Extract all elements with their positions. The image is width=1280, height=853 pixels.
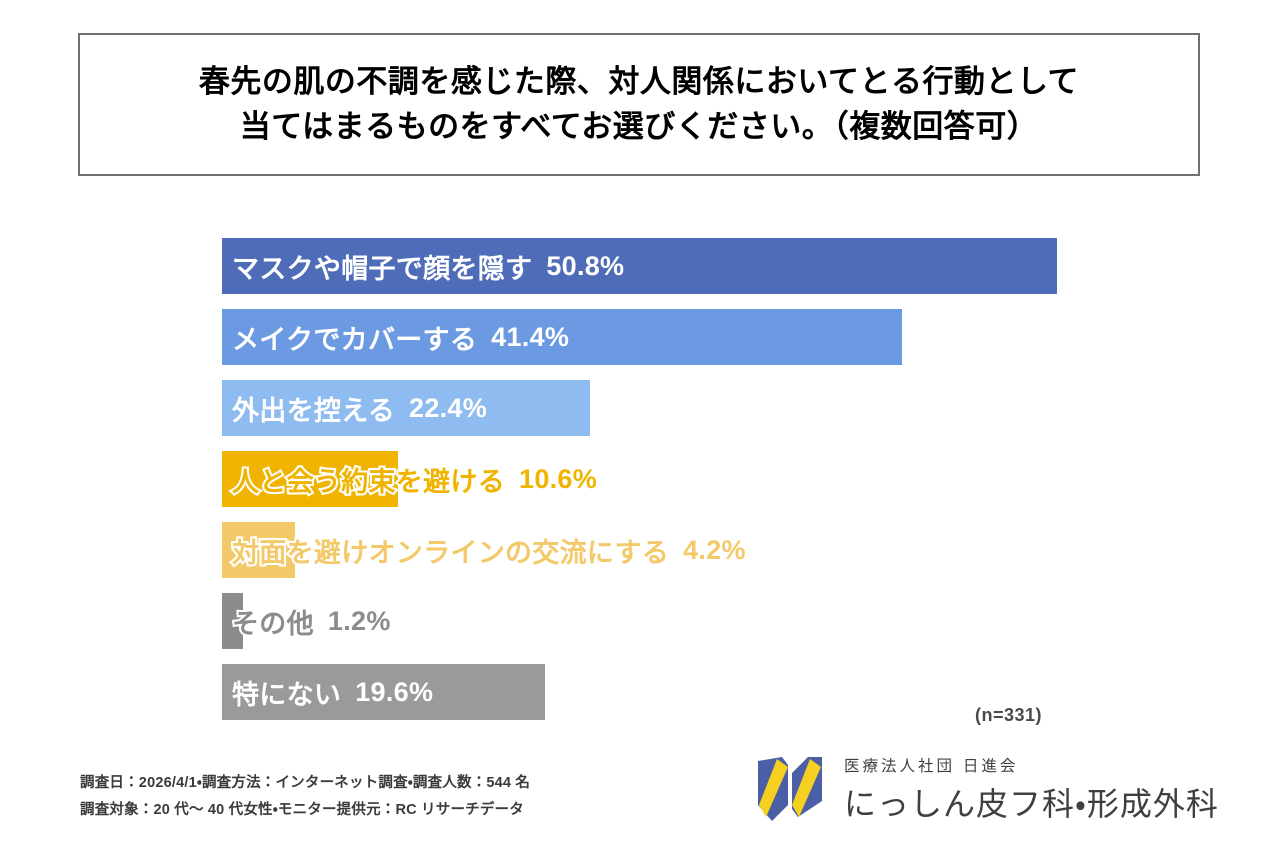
bar-label: メイクでカバーする — [232, 318, 477, 357]
clinic-org-name: 医療法人社団 日進会 — [844, 754, 1219, 776]
bar-label: その他 — [232, 602, 314, 641]
bar-caption: 外出を控える22.4% — [232, 380, 487, 436]
bar-label: マスクや帽子で顔を隠す — [232, 247, 532, 286]
survey-metadata-line-2: 調査対象：20 代〜 40 代女性・モニター提供元：RC リサーチデータ — [80, 797, 530, 824]
bar-value: 4.2% — [683, 535, 746, 566]
bar-label: 特にない — [232, 673, 341, 712]
bar-caption: その他1.2% — [232, 593, 391, 649]
bar-value: 50.8% — [546, 251, 624, 282]
bar-value: 1.2% — [328, 606, 391, 637]
clinic-logo-text: 医療法人社団 日進会 にっしん皮フ科・形成外科 — [844, 754, 1219, 825]
bar-caption: 特にない19.6% — [232, 664, 433, 720]
bar-caption: マスクや帽子で顔を隠す50.8% — [232, 238, 624, 294]
clinic-logo: 医療法人社団 日進会 にっしん皮フ科・形成外科 — [752, 750, 1212, 828]
bar-value: 10.6% — [519, 464, 597, 495]
clinic-name: にっしん皮フ科・形成外科 — [844, 779, 1219, 825]
bar-value: 22.4% — [409, 393, 487, 424]
bar-caption: メイクでカバーする41.4% — [232, 309, 569, 365]
bar-value: 41.4% — [491, 322, 569, 353]
horizontal-bar-chart: マスクや帽子で顔を隠す50.8%メイクでカバーする41.4%外出を控える22.4… — [0, 0, 1280, 853]
bar-label: 人と会う約束を避ける — [232, 460, 505, 499]
bar-label: 対面を避けオンラインの交流にする — [232, 531, 669, 570]
bar-label: 外出を控える — [232, 389, 395, 428]
sample-size-label: (n=331) — [975, 705, 1042, 726]
survey-metadata-line-1: 調査日：2026/4/1・調査方法：インターネット調査・調査人数：544 名 — [80, 770, 530, 797]
bar-caption: 人と会う約束を避ける10.6% — [232, 451, 597, 507]
clinic-logo-mark-icon — [752, 753, 828, 825]
survey-metadata: 調査日：2026/4/1・調査方法：インターネット調査・調査人数：544 名 調… — [80, 770, 530, 824]
bar-value: 19.6% — [355, 677, 433, 708]
bar-caption: 対面を避けオンラインの交流にする4.2% — [232, 522, 746, 578]
